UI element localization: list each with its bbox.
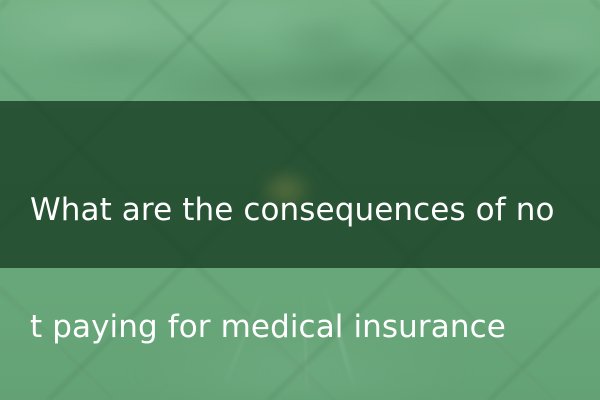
caption-line-2: t paying for medical insurance [30,308,600,347]
question-card: What are the consequences of no t paying… [0,0,600,400]
caption-text-block: What are the consequences of no t paying… [0,101,600,400]
caption-line-1: What are the consequences of no [30,191,600,230]
